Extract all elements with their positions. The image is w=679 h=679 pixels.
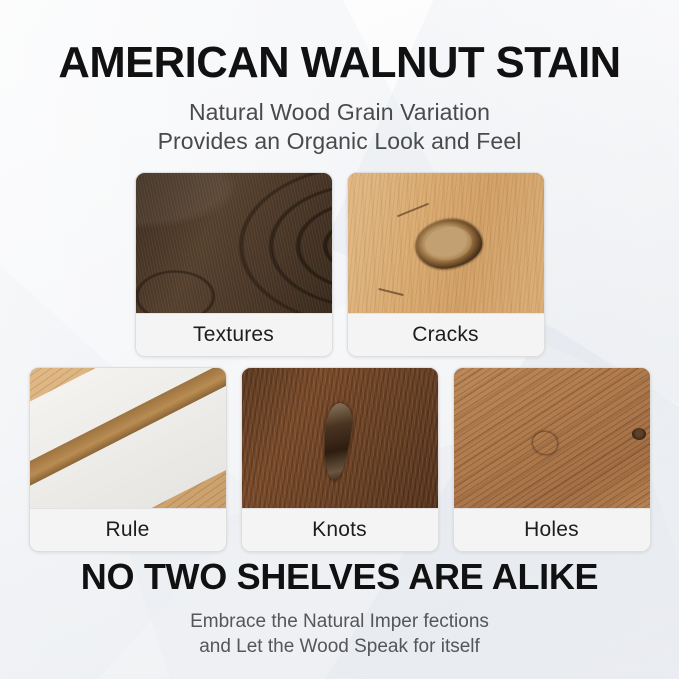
footer-subtitle-line-2: and Let the Wood Speak for itself: [0, 634, 679, 659]
feature-card-holes[interactable]: Holes: [453, 367, 651, 552]
header-subtitle: Natural Wood Grain Variation Provides an…: [0, 98, 679, 156]
footer-title: NO TWO SHELVES ARE ALIKE: [0, 556, 679, 598]
card-row-top: Textures Cracks: [0, 172, 679, 357]
card-label-holes: Holes: [454, 508, 650, 551]
card-photo-cracks: [348, 173, 544, 313]
card-photo-holes: [454, 368, 650, 508]
feature-card-rule[interactable]: Rule: [29, 367, 227, 552]
feature-card-textures[interactable]: Textures: [135, 172, 333, 357]
card-label-knots: Knots: [242, 508, 438, 551]
page-title: AMERICAN WALNUT STAIN: [3, 40, 675, 87]
feature-card-knots[interactable]: Knots: [241, 367, 439, 552]
header-subtitle-line-1: Natural Wood Grain Variation: [0, 98, 679, 127]
card-photo-rule: [30, 368, 226, 508]
feature-card-grid: Textures Cracks Rule: [0, 172, 679, 552]
wood-hole-icon-main: [533, 432, 557, 454]
card-row-bottom: Rule Knots Holes: [0, 367, 679, 552]
footer-block: NO TWO SHELVES ARE ALIKE Embrace the Nat…: [0, 556, 679, 659]
card-photo-knots: [242, 368, 438, 508]
feature-card-cracks[interactable]: Cracks: [347, 172, 545, 357]
card-photo-textures: [136, 173, 332, 313]
card-label-textures: Textures: [136, 313, 332, 356]
footer-subtitle-line-1: Embrace the Natural Imper fections: [0, 609, 679, 634]
wood-hole-icon-small: [632, 428, 646, 440]
wood-texture-dark-arcs-icon: [136, 173, 332, 313]
footer-subtitle: Embrace the Natural Imper fections and L…: [0, 609, 679, 659]
card-label-rule: Rule: [30, 508, 226, 551]
card-label-cracks: Cracks: [348, 313, 544, 356]
infographic-root: AMERICAN WALNUT STAIN Natural Wood Grain…: [0, 0, 679, 679]
header-subtitle-line-2: Provides an Organic Look and Feel: [0, 127, 679, 156]
header-block: AMERICAN WALNUT STAIN Natural Wood Grain…: [0, 40, 679, 156]
